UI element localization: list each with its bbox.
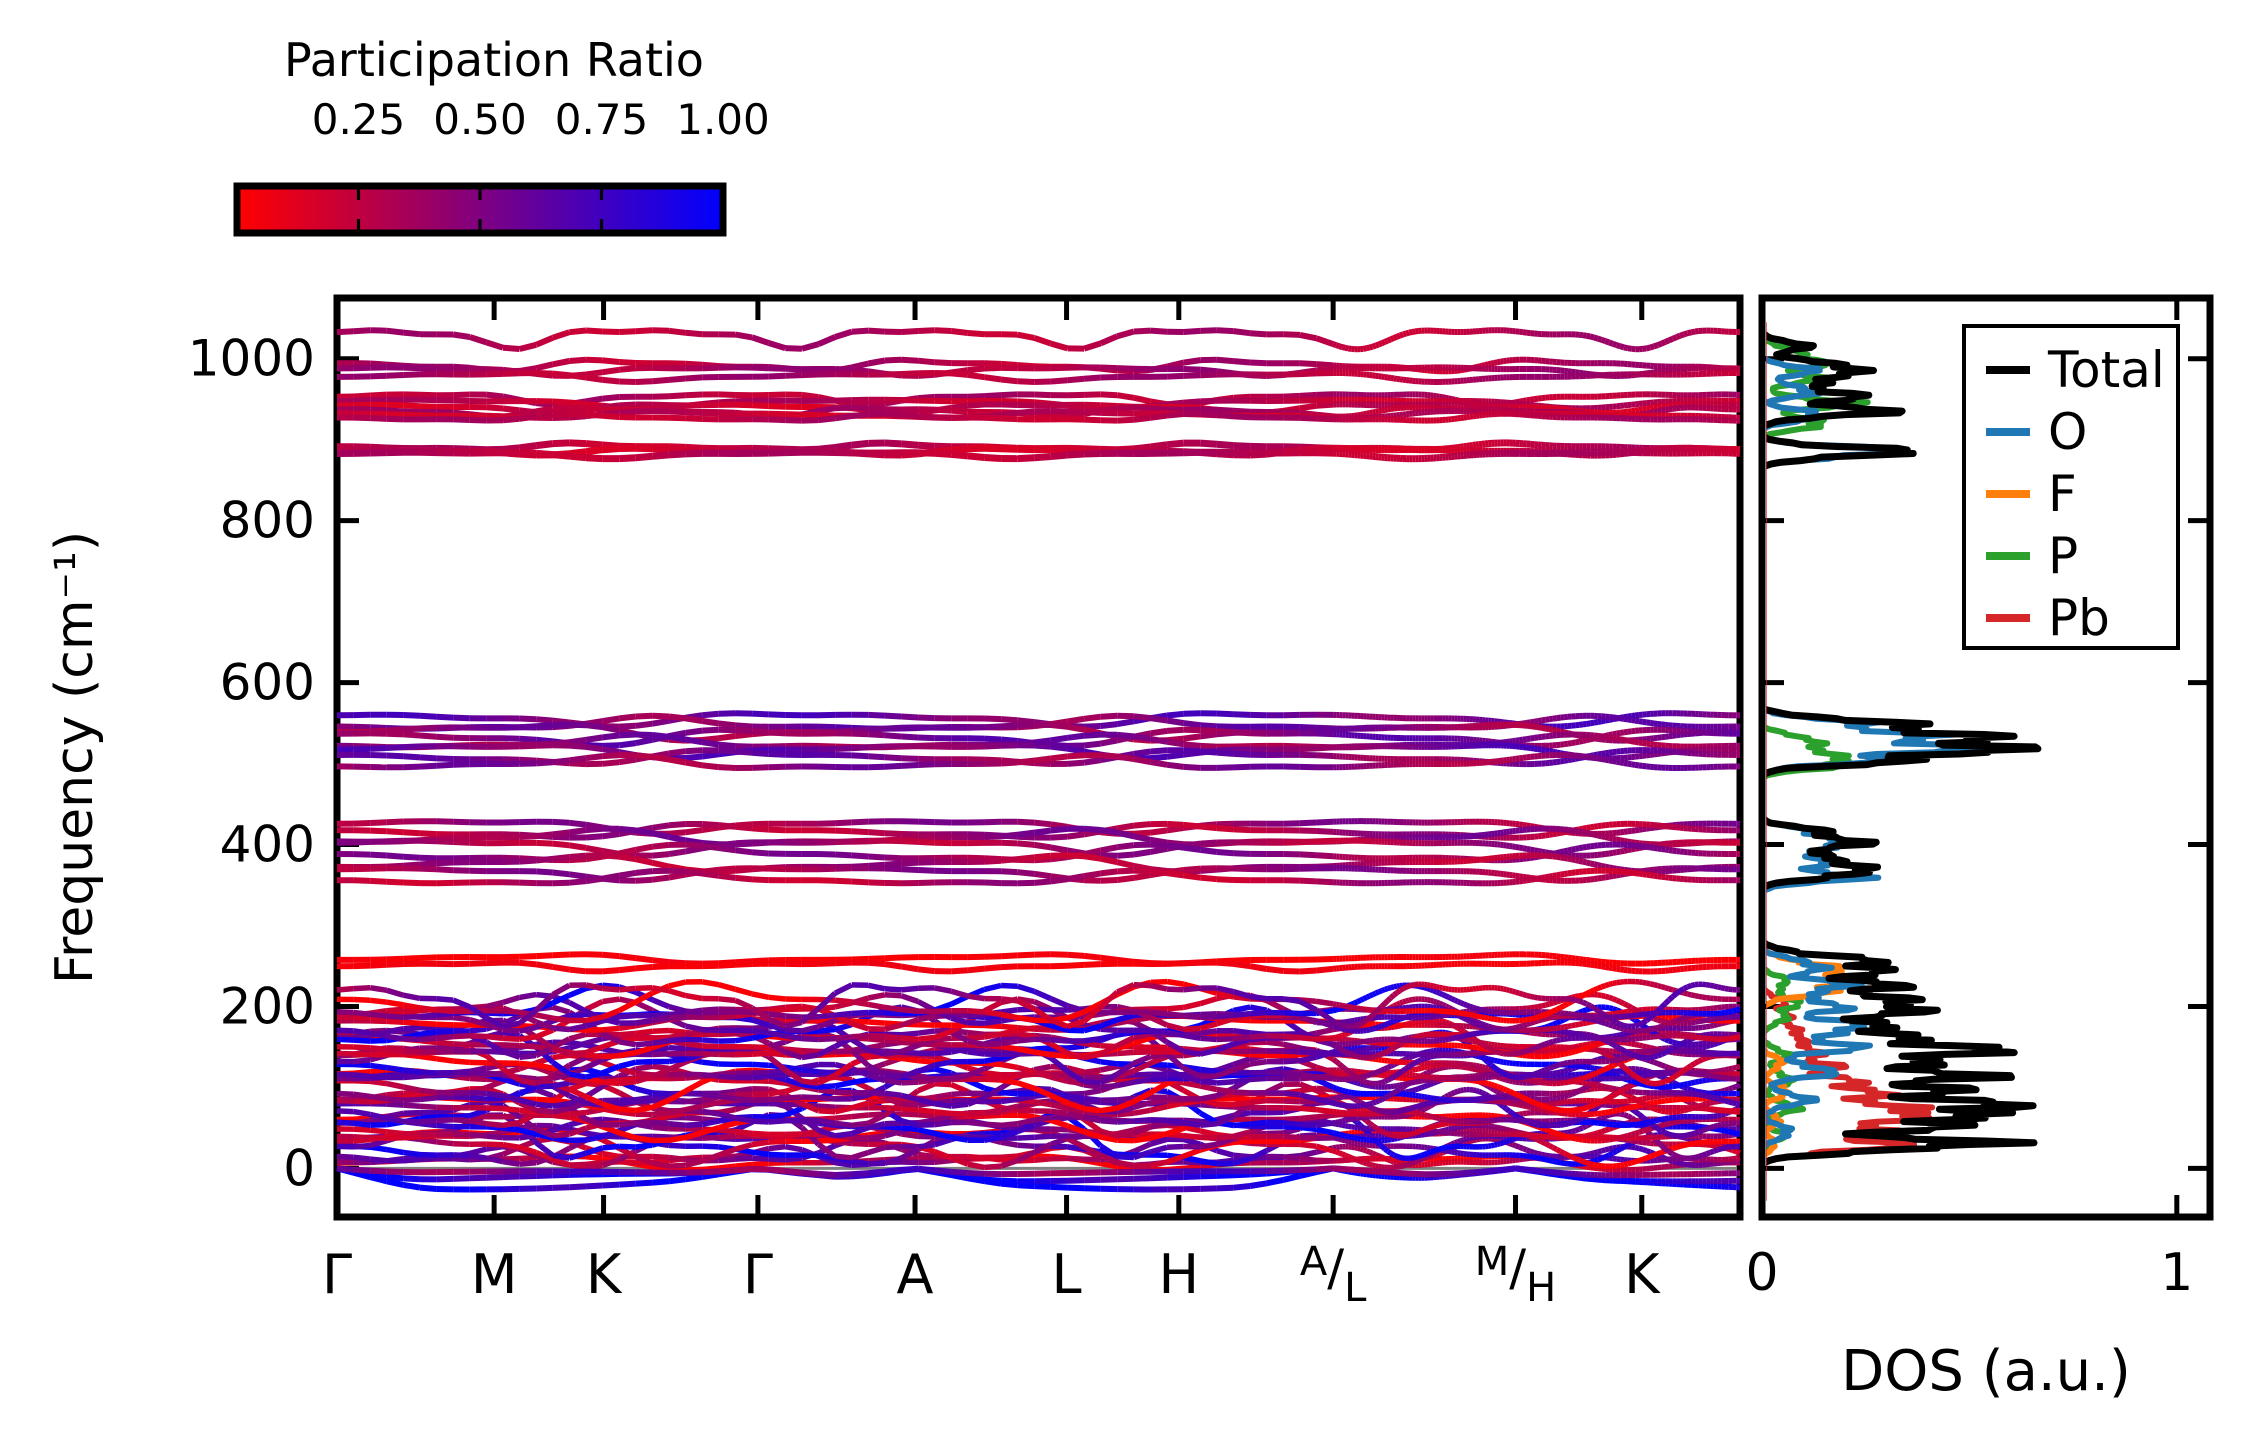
band-segment: [1527, 757, 1531, 758]
band-segment: [769, 368, 786, 369]
band-segment: [1134, 752, 1151, 754]
band-segment: [1516, 824, 1520, 825]
band-segment: [569, 331, 586, 333]
band-segment: [1590, 337, 1594, 338]
band-segment: [1034, 395, 1051, 396]
band-segment: [1661, 406, 1665, 407]
band-segment: [1151, 718, 1168, 720]
band-segment: [1579, 861, 1583, 862]
band-segment: [686, 763, 703, 766]
band-segment: [1167, 714, 1184, 716]
band-segment: [1546, 729, 1550, 730]
band-segment: [1605, 737, 1609, 738]
band-segment: [1409, 332, 1412, 333]
band-segment: [420, 766, 437, 767]
band-segment: [736, 827, 753, 829]
band-segment: [1084, 378, 1101, 379]
band-segment: [1531, 722, 1535, 723]
band-segment: [1587, 863, 1591, 864]
band-segment: [719, 745, 736, 747]
band-segment: [1018, 381, 1035, 382]
band-segment: [985, 719, 1002, 720]
band-segment: [354, 368, 371, 369]
band-segment: [1317, 841, 1334, 842]
band-segment: [453, 419, 470, 420]
band-segment: [453, 870, 470, 871]
band-segment: [1553, 730, 1557, 731]
band-segment: [1661, 342, 1665, 344]
band-segment: [1557, 761, 1561, 762]
band-segment: [1364, 348, 1367, 349]
band-segment: [868, 729, 885, 730]
band-segment: [586, 378, 603, 380]
band-segment: [1587, 846, 1591, 847]
band-segment: [1084, 454, 1101, 455]
band-segment: [569, 874, 586, 876]
band-segment: [1661, 844, 1665, 845]
band-segment: [1632, 764, 1636, 765]
band-segment: [1184, 713, 1201, 714]
band-segment: [1568, 760, 1572, 761]
band-segment: [1557, 852, 1561, 853]
band-segment: [1400, 334, 1403, 335]
band-segment: [1587, 833, 1591, 834]
band-segment: [1519, 758, 1523, 759]
band-segment: [769, 714, 786, 715]
band-segment: [1557, 857, 1561, 858]
band-segment: [968, 396, 985, 397]
band-segment: [1217, 767, 1234, 768]
band-segment: [669, 851, 686, 854]
band-segment: [785, 420, 802, 421]
band-segment: [652, 380, 669, 381]
band-segment: [736, 730, 753, 731]
band-segment: [1134, 824, 1151, 826]
colorbar-tick-label: 0.50: [433, 95, 527, 144]
band-segment: [1632, 411, 1636, 412]
band-segment: [536, 834, 553, 836]
band-segment: [1200, 751, 1217, 752]
band-segment: [985, 377, 1002, 379]
band-segment: [387, 856, 404, 857]
band-segment: [1250, 363, 1267, 364]
band-segment: [1317, 747, 1334, 748]
band-segment: [1068, 454, 1085, 455]
band-segment: [603, 855, 620, 856]
band-segment: [1200, 843, 1217, 844]
band-segment: [702, 413, 719, 414]
band-segment: [686, 377, 703, 378]
band-segment: [486, 374, 503, 375]
band-segment: [835, 400, 852, 401]
band-segment: [1217, 330, 1234, 331]
band-segment: [520, 345, 537, 349]
band-segment: [1051, 855, 1068, 856]
band-segment: [553, 418, 570, 419]
band-segment: [1184, 767, 1201, 768]
band-segment: [1538, 398, 1542, 399]
band-segment: [1613, 852, 1617, 853]
band-segment: [520, 446, 537, 448]
band-segment: [1151, 845, 1168, 846]
band-segment: [1572, 742, 1576, 743]
band-segment: [1676, 735, 1680, 736]
band-segment: [835, 445, 852, 447]
band-segment: [1388, 339, 1391, 340]
band-segment: [719, 713, 736, 714]
band-segment: [603, 332, 620, 333]
band-segment: [1669, 339, 1673, 341]
band-segment: [902, 717, 919, 718]
band-segment: [1546, 751, 1550, 752]
band-segment: [586, 756, 603, 758]
band-segment: [1084, 412, 1101, 413]
band-segment: [1068, 736, 1085, 738]
band-segment: [1605, 753, 1609, 754]
band-segment: [1669, 409, 1673, 410]
band-segment: [536, 408, 553, 411]
band-segment: [918, 842, 935, 843]
band-segment: [1184, 360, 1201, 363]
band-segment: [1084, 717, 1101, 719]
band-segment: [1101, 716, 1118, 717]
band-segment: [536, 719, 553, 720]
band-segment: [1339, 346, 1342, 347]
band-segment: [1234, 411, 1251, 412]
band-segment: [1661, 410, 1665, 411]
band-segment: [354, 842, 371, 843]
band-segment: [503, 373, 520, 374]
band-segment: [470, 420, 487, 421]
band-segment: [387, 756, 404, 757]
band-structure-panel: [337, 298, 1740, 1217]
band-segment: [520, 746, 537, 747]
band-segment: [586, 399, 603, 402]
band-segment: [968, 405, 985, 406]
band-segment: [1605, 867, 1609, 868]
band-segment: [1560, 857, 1564, 858]
band-segment: [1624, 412, 1628, 413]
band-segment: [1568, 850, 1572, 851]
band-segment: [736, 850, 753, 852]
band-segment: [902, 444, 919, 445]
band-segment: [1519, 332, 1523, 333]
band-segment: [719, 750, 736, 751]
band-segment: [1317, 855, 1334, 856]
band-segment: [486, 416, 503, 417]
band-segment: [885, 869, 902, 870]
band-segment: [603, 762, 620, 764]
band-segment: [1602, 340, 1606, 341]
band-segment: [1084, 850, 1101, 854]
band-segment: [553, 832, 570, 834]
band-segment: [1370, 347, 1373, 348]
band-segment: [1117, 862, 1134, 866]
band-segment: [1661, 371, 1665, 372]
band-segment: [520, 760, 537, 761]
band-segment: [1200, 375, 1217, 376]
band-segment: [652, 845, 669, 847]
band-segment: [1034, 831, 1051, 833]
band-segment: [1557, 833, 1561, 834]
band-segment: [387, 734, 404, 735]
band-segment: [1590, 738, 1594, 739]
band-segment: [603, 755, 620, 756]
band-segment: [1497, 362, 1500, 363]
band-segment: [636, 716, 653, 717]
band-segment: [569, 403, 586, 405]
band-segment: [1034, 415, 1051, 417]
band-segment: [354, 727, 371, 728]
band-segment: [1688, 332, 1692, 333]
band-segment: [1538, 851, 1542, 852]
band-segment: [1084, 856, 1101, 858]
band-segment: [1001, 859, 1018, 861]
band-segment: [1001, 725, 1018, 726]
band-segment: [1101, 740, 1118, 743]
band-segment: [1001, 394, 1018, 395]
band-segment: [686, 739, 703, 742]
band-segment: [1564, 851, 1568, 852]
band-segment: [769, 395, 786, 396]
band-segment: [437, 412, 454, 413]
band-segment: [785, 348, 802, 349]
band-segment: [636, 330, 653, 331]
band-segment: [569, 856, 586, 857]
band-segment: [1560, 744, 1564, 745]
band-segment: [1300, 373, 1317, 374]
band-segment: [852, 443, 869, 445]
band-segment: [985, 836, 1002, 837]
band-segment: [1117, 716, 1134, 717]
band-segment: [852, 822, 869, 823]
band-segment: [1134, 331, 1151, 332]
band-segment: [1151, 739, 1168, 742]
band-segment: [1373, 346, 1376, 347]
band-segment: [1283, 396, 1300, 397]
band-segment: [354, 823, 371, 824]
band-segment: [1549, 719, 1553, 720]
band-segment: [1568, 371, 1572, 372]
band-segment: [1084, 726, 1101, 727]
band-segment: [1643, 829, 1647, 830]
band-segment: [586, 408, 603, 409]
band-segment: [752, 405, 769, 406]
band-segment: [1538, 749, 1542, 750]
band-segment: [1491, 363, 1494, 364]
band-segment: [1379, 343, 1382, 344]
band-segment: [686, 453, 703, 454]
band-segment: [1134, 852, 1151, 855]
band-segment: [652, 757, 669, 760]
band-segment: [1542, 720, 1546, 721]
band-segment: [1200, 734, 1217, 736]
band-segment: [686, 848, 703, 851]
band-segment: [1084, 760, 1101, 763]
band-segment: [553, 873, 570, 875]
band-segment: [1317, 394, 1334, 395]
band-segment: [1001, 405, 1018, 406]
band-segment: [420, 716, 437, 717]
band-segment: [1134, 398, 1151, 402]
colorbar-group: [237, 186, 723, 233]
band-segment: [1134, 716, 1151, 718]
band-segment: [951, 373, 968, 375]
band-segment: [702, 730, 719, 731]
band-segment: [1034, 740, 1051, 742]
band-segment: [437, 863, 454, 864]
band-segment: [586, 444, 603, 445]
band-segment: [387, 405, 404, 406]
band-segment: [420, 858, 437, 859]
band-segment: [420, 395, 437, 396]
band-segment: [1647, 408, 1651, 409]
band-segment: [1018, 857, 1035, 859]
band-segment: [636, 830, 653, 833]
band-segment: [1184, 736, 1201, 738]
band-segment: [686, 757, 703, 759]
band-segment: [1001, 419, 1018, 420]
band-segment: [819, 418, 836, 420]
band-segment: [885, 716, 902, 717]
band-segment: [1594, 826, 1598, 827]
band-segment: [1602, 836, 1606, 837]
band-segment: [1542, 728, 1546, 729]
band-segment: [1531, 748, 1535, 749]
band-segment: [1101, 413, 1118, 414]
band-segment: [868, 408, 885, 409]
band-segment: [337, 331, 354, 332]
band-segment: [1151, 445, 1168, 447]
band-segment: [1609, 342, 1613, 343]
band-segment: [619, 382, 636, 383]
band-segment: [403, 415, 420, 416]
band-segment: [1579, 832, 1583, 833]
band-segment: [652, 455, 669, 456]
band-segment: [885, 414, 902, 415]
band-segment: [403, 368, 420, 369]
band-segment: [1018, 761, 1035, 763]
band-segment: [1382, 377, 1385, 378]
band-segment: [1167, 414, 1184, 416]
band-segment: [1658, 844, 1662, 845]
band-segment: [1632, 731, 1636, 732]
band-segment: [819, 854, 836, 855]
band-segment: [1613, 738, 1617, 739]
band-segment: [1669, 736, 1673, 737]
band-segment: [586, 836, 603, 837]
band-segment: [1234, 754, 1251, 755]
band-segment: [1564, 858, 1568, 859]
band-segment: [918, 870, 935, 871]
band-segment: [1151, 830, 1168, 832]
band-segment: [1134, 875, 1151, 878]
band-segment: [1557, 718, 1561, 719]
band-segment: [370, 376, 387, 377]
band-segment: [1583, 828, 1587, 829]
band-segment: [769, 830, 786, 831]
band-segment: [1531, 850, 1535, 851]
band-segment: [1217, 731, 1234, 732]
band-segment: [1406, 333, 1409, 334]
band-segment: [1594, 864, 1598, 865]
band-segment: [636, 381, 653, 382]
band-segment: [835, 727, 852, 728]
band-segment: [1519, 740, 1523, 741]
band-segment: [1628, 411, 1632, 412]
band-segment: [719, 724, 736, 726]
band-segment: [1034, 845, 1051, 848]
band-segment: [636, 847, 653, 850]
band-segment: [1602, 854, 1606, 855]
band-segment: [852, 408, 869, 409]
band-segment: [652, 825, 669, 828]
band-segment: [1560, 761, 1564, 762]
band-segment: [1605, 854, 1609, 855]
band-segment: [1583, 335, 1587, 336]
band-segment: [1151, 731, 1168, 733]
band-segment: [1534, 737, 1538, 738]
band-segment: [1217, 714, 1234, 715]
band-segment: [370, 841, 387, 842]
band-segment: [1516, 758, 1520, 759]
band-segment: [536, 415, 553, 417]
band-segment: [619, 331, 636, 332]
band-segment: [370, 330, 387, 331]
band-segment: [553, 857, 570, 859]
band-segment: [1632, 849, 1636, 850]
band-segment: [603, 749, 620, 752]
band-segment: [1134, 836, 1151, 840]
band-segment: [1620, 718, 1624, 719]
band-segment: [918, 822, 935, 823]
band-segment: [420, 736, 437, 737]
band-segment: [1624, 719, 1628, 720]
band-segment: [1397, 336, 1400, 337]
band-segment: [1051, 725, 1068, 727]
band-segment: [686, 395, 703, 396]
band-segment: [1516, 740, 1520, 741]
band-segment: [669, 418, 686, 419]
band-segment: [1534, 721, 1538, 722]
band-segment: [1101, 880, 1118, 881]
band-segment: [553, 402, 570, 403]
band-segment: [1594, 835, 1598, 836]
band-segment: [1549, 834, 1553, 835]
band-segment: [1317, 405, 1334, 406]
band-segment: [868, 756, 885, 757]
band-segment: [935, 330, 952, 331]
band-segment: [1167, 846, 1184, 848]
band-segment: [1300, 841, 1317, 842]
band-segment: [1654, 412, 1658, 413]
band-segment: [569, 746, 586, 747]
band-segment: [1234, 767, 1251, 768]
band-segment: [802, 420, 819, 421]
band-segment: [437, 737, 454, 738]
band-segment: [1134, 845, 1151, 846]
band-segment: [835, 369, 852, 370]
band-segment: [868, 404, 885, 405]
band-segment: [1628, 831, 1632, 832]
band-segment: [752, 753, 769, 754]
band-segment: [520, 739, 537, 740]
band-segment: [885, 766, 902, 767]
band-segment: [603, 397, 620, 399]
band-segment: [835, 408, 852, 409]
band-segment: [1018, 458, 1035, 459]
band-segment: [1628, 741, 1632, 742]
